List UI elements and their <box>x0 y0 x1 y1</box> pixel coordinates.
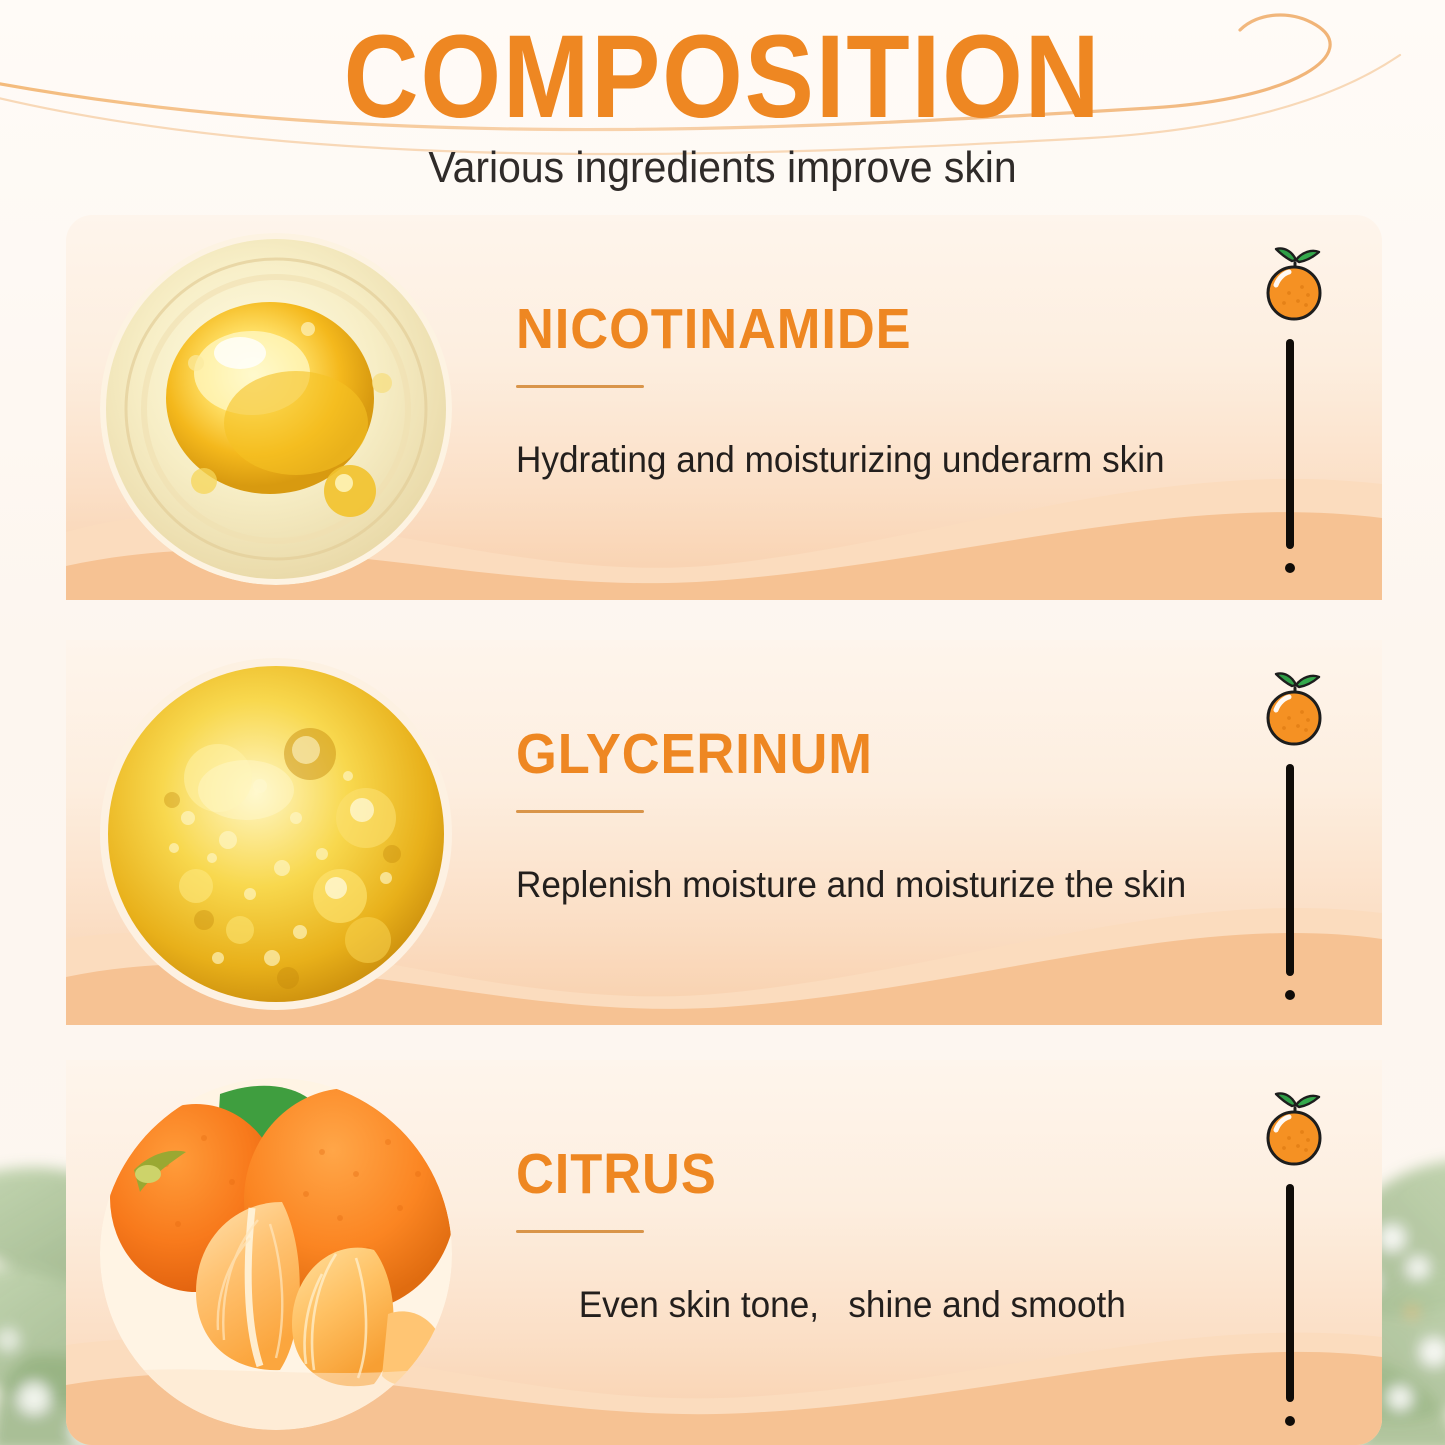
card-marker <box>1248 668 1340 1008</box>
exclamation-line-icon <box>1286 339 1294 573</box>
ingredient-card-citrus: CITRUS Even skin tone, shine and smooth <box>66 1060 1382 1445</box>
page-header: COMPOSITION Various ingredients improve … <box>0 0 1445 205</box>
ingredient-description: Even skin tone, shine and smooth <box>516 1283 1238 1327</box>
card-text-block: GLYCERINUM Replenish moisture and moistu… <box>516 724 1276 907</box>
ingredient-image-nicotinamide <box>100 233 452 585</box>
heading-divider <box>516 385 644 388</box>
glycerinum-bubbles-photo <box>100 658 452 1010</box>
ingredient-description: Replenish moisture and moisturize the sk… <box>516 863 1238 907</box>
card-marker <box>1248 1088 1340 1428</box>
ingredient-heading: NICOTINAMIDE <box>516 299 1215 359</box>
orange-fruit-icon <box>1256 1088 1332 1168</box>
heading-divider <box>516 1230 644 1233</box>
ingredient-heading: CITRUS <box>516 1144 1215 1204</box>
card-text-block: NICOTINAMIDE Hydrating and moisturizing … <box>516 299 1276 482</box>
heading-divider <box>516 810 644 813</box>
card-text-block: CITRUS Even skin tone, shine and smooth <box>516 1144 1276 1327</box>
orange-fruit-icon <box>1256 668 1332 748</box>
ingredient-card-nicotinamide: NICOTINAMIDE Hydrating and moisturizing … <box>66 215 1382 600</box>
exclamation-line-icon <box>1286 764 1294 1000</box>
page-subtitle: Various ingredients improve skin <box>51 143 1395 193</box>
ingredient-heading: GLYCERINUM <box>516 724 1215 784</box>
ingredient-image-citrus <box>100 1078 452 1430</box>
page-title: COMPOSITION <box>87 18 1359 136</box>
ingredient-image-glycerinum <box>100 658 452 1010</box>
ingredient-description: Hydrating and moisturizing underarm skin <box>516 438 1238 482</box>
ingredient-card-glycerinum: GLYCERINUM Replenish moisture and moistu… <box>66 640 1382 1025</box>
card-marker <box>1248 243 1340 583</box>
orange-fruit-icon <box>1256 243 1332 323</box>
exclamation-line-icon <box>1286 1184 1294 1426</box>
nicotinamide-oil-droplet-photo <box>100 233 452 585</box>
citrus-orange-slices-photo <box>100 1078 452 1430</box>
